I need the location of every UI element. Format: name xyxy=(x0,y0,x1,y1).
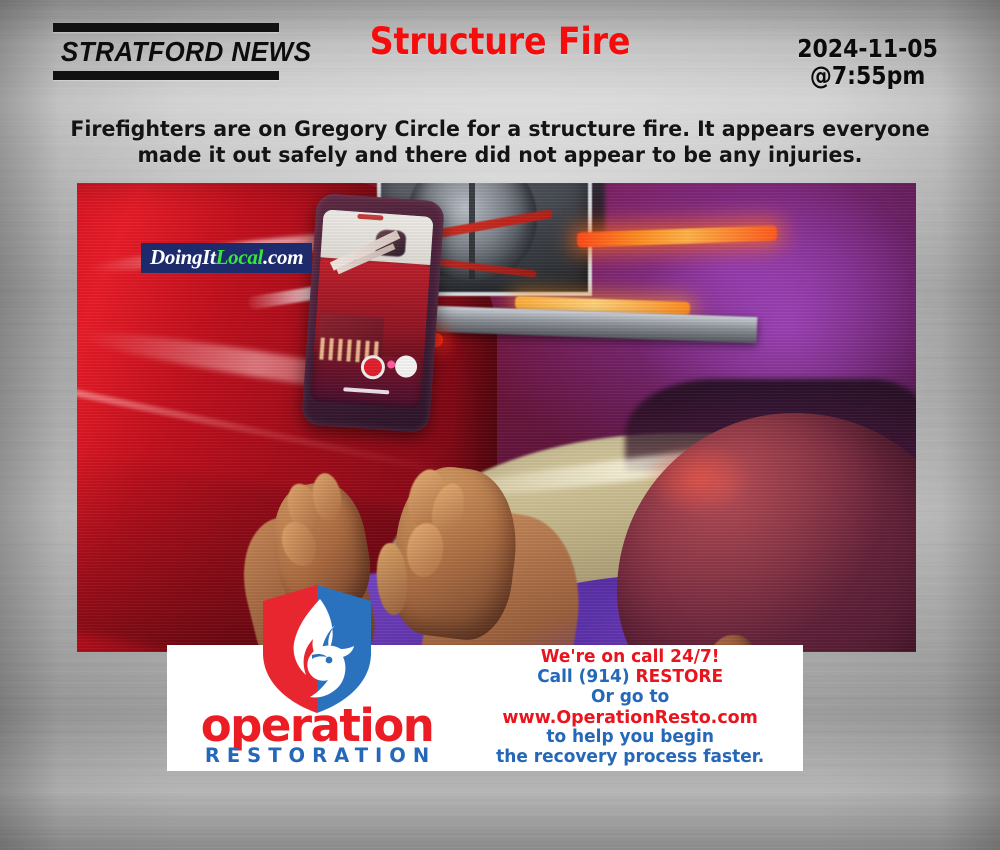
screen-home-indicator xyxy=(343,387,389,394)
watermark-text-1: DoingIt xyxy=(150,245,216,269)
ad-line-5: to help you begin xyxy=(472,728,788,748)
timestamp-date: 2024-11-05 xyxy=(797,34,938,63)
ad-line-2-restore: RESTORE xyxy=(636,667,724,687)
story-summary-line-2: safely and there did not appear to be an… xyxy=(278,143,862,168)
timestamp: 2024-11-05 @7:55pm xyxy=(797,36,938,88)
screen-shutter-button xyxy=(394,355,417,378)
watermark-text-2: Local xyxy=(216,245,263,269)
doingitlocal-watermark: DoingItLocal.com xyxy=(141,243,312,273)
ad-line-3: Or go to xyxy=(472,688,788,708)
advertiser-logo[interactable]: operation RESTORATION xyxy=(167,645,467,771)
advertisement-copy: We're on call 24/7! Call (914) RESTORE O… xyxy=(472,648,798,767)
ad-line-2-call: Call (914) xyxy=(537,667,629,687)
head-highlight xyxy=(643,441,753,515)
advertiser-name-secondary: RESTORATION xyxy=(198,746,436,766)
news-graphic-card: STRATFORD NEWS Structure Fire 2024-11-05… xyxy=(0,0,1000,850)
ad-website-link[interactable]: www.OperationResto.com xyxy=(472,708,788,728)
story-summary: Firefighters are on Gregory Circle for a… xyxy=(40,117,961,169)
ad-line-2: Call (914) RESTORE xyxy=(472,668,788,688)
timestamp-time: @7:55pm xyxy=(797,63,938,89)
sponsor-advertisement[interactable]: operation RESTORATION We're on call 24/7… xyxy=(167,645,803,771)
smartphone-screen xyxy=(310,209,433,408)
masthead-rule-bottom xyxy=(53,71,279,80)
shield-flame-eagle-icon xyxy=(257,583,377,715)
screen-record-button xyxy=(360,354,386,380)
ad-line-1: We're on call 24/7! xyxy=(472,648,788,668)
watermark-text-3: .com xyxy=(263,245,303,269)
ad-line-6: the recovery process faster. xyxy=(472,748,788,768)
